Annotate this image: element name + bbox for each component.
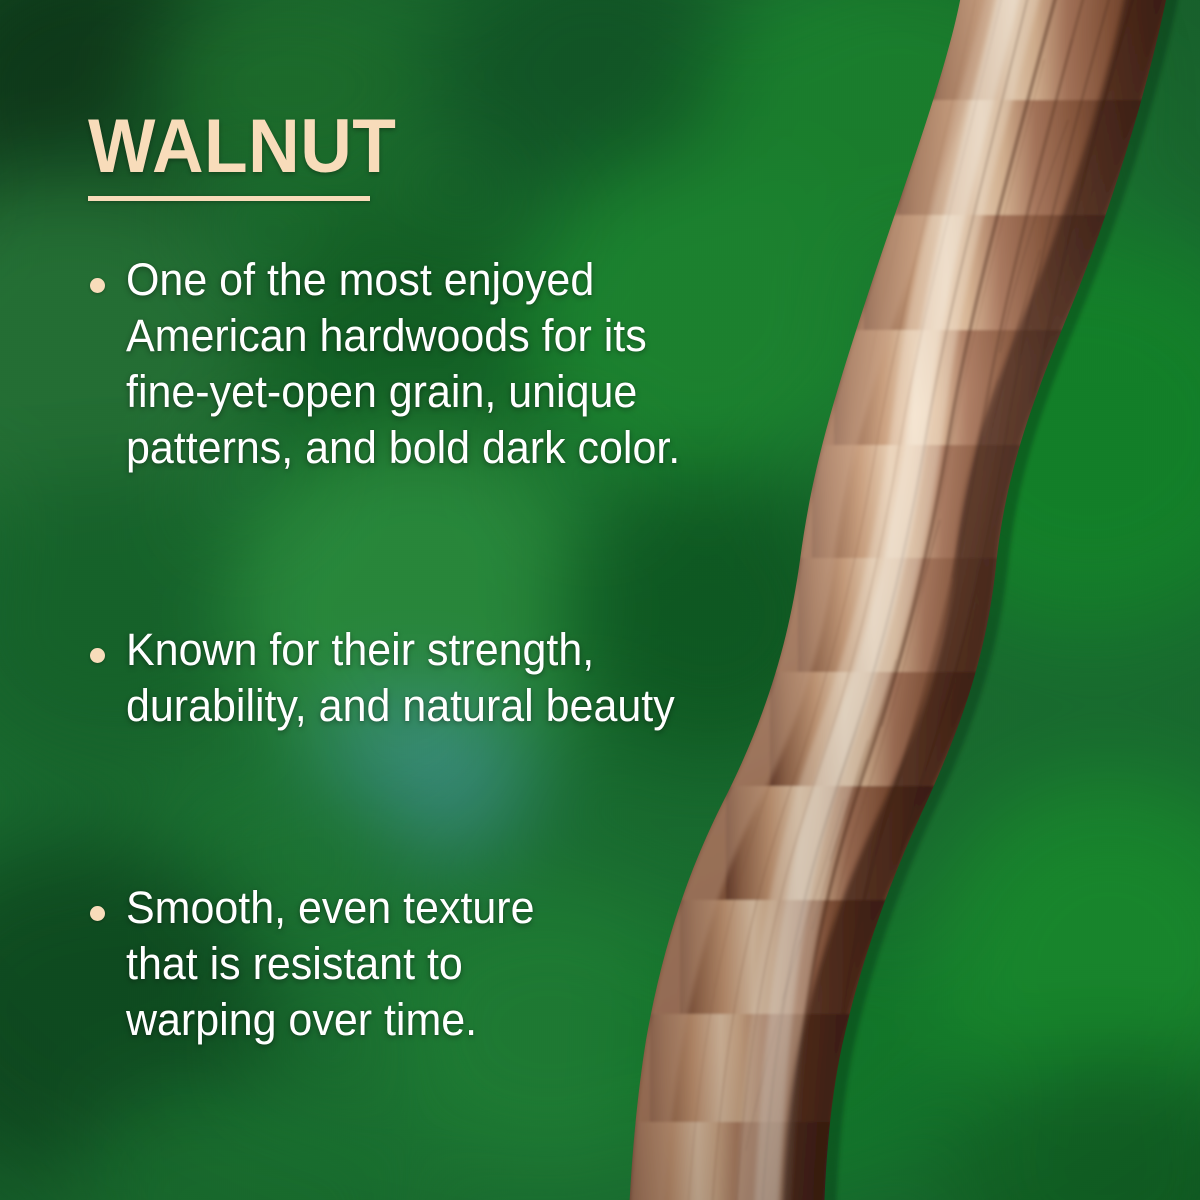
bullet-dot-icon	[90, 278, 105, 293]
bullet-text-grain: One of the most enjoyed American hardwoo…	[126, 252, 697, 476]
title-underline-rule	[88, 196, 370, 201]
list-item: One of the most enjoyed American hardwoo…	[84, 252, 724, 476]
feature-bullet-list: One of the most enjoyed American hardwoo…	[84, 252, 724, 1048]
list-item: Known for their strength, durability, an…	[84, 622, 724, 734]
page-title: WALNUT	[88, 112, 396, 182]
bullet-dot-icon	[90, 906, 105, 921]
list-item: Smooth, even texture that is resistant t…	[84, 880, 724, 1048]
walnut-feature-card: WALNUT One of the most enjoyed American …	[0, 0, 1200, 1200]
bullet-text-texture: Smooth, even texture that is resistant t…	[126, 880, 697, 1048]
text-content-panel: WALNUT One of the most enjoyed American …	[0, 0, 760, 1200]
bullet-dot-icon	[90, 648, 105, 663]
title-block: WALNUT	[88, 112, 416, 201]
bullet-text-strength: Known for their strength, durability, an…	[126, 622, 697, 734]
